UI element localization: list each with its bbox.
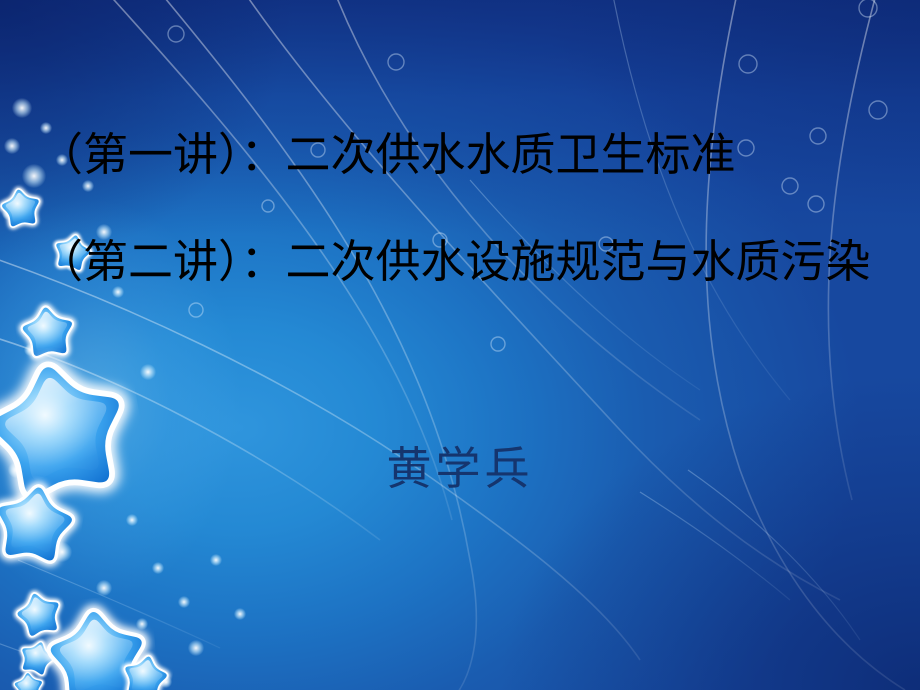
presentation-slide: （第一讲）：二次供水水质卫生标准 （第二讲）：二次供水设施规范与水质污染 黄学兵 [0,0,920,690]
slide-title-block: （第一讲）：二次供水水质卫生标准 （第二讲）：二次供水设施规范与水质污染 [10,132,915,284]
title-line-2: （第二讲）：二次供水设施规范与水质污染 [10,239,915,284]
author-name: 黄学兵 [0,446,920,491]
slide-background-corner-shade [0,0,920,690]
title-line-1: （第一讲）：二次供水水质卫生标准 [10,132,915,177]
